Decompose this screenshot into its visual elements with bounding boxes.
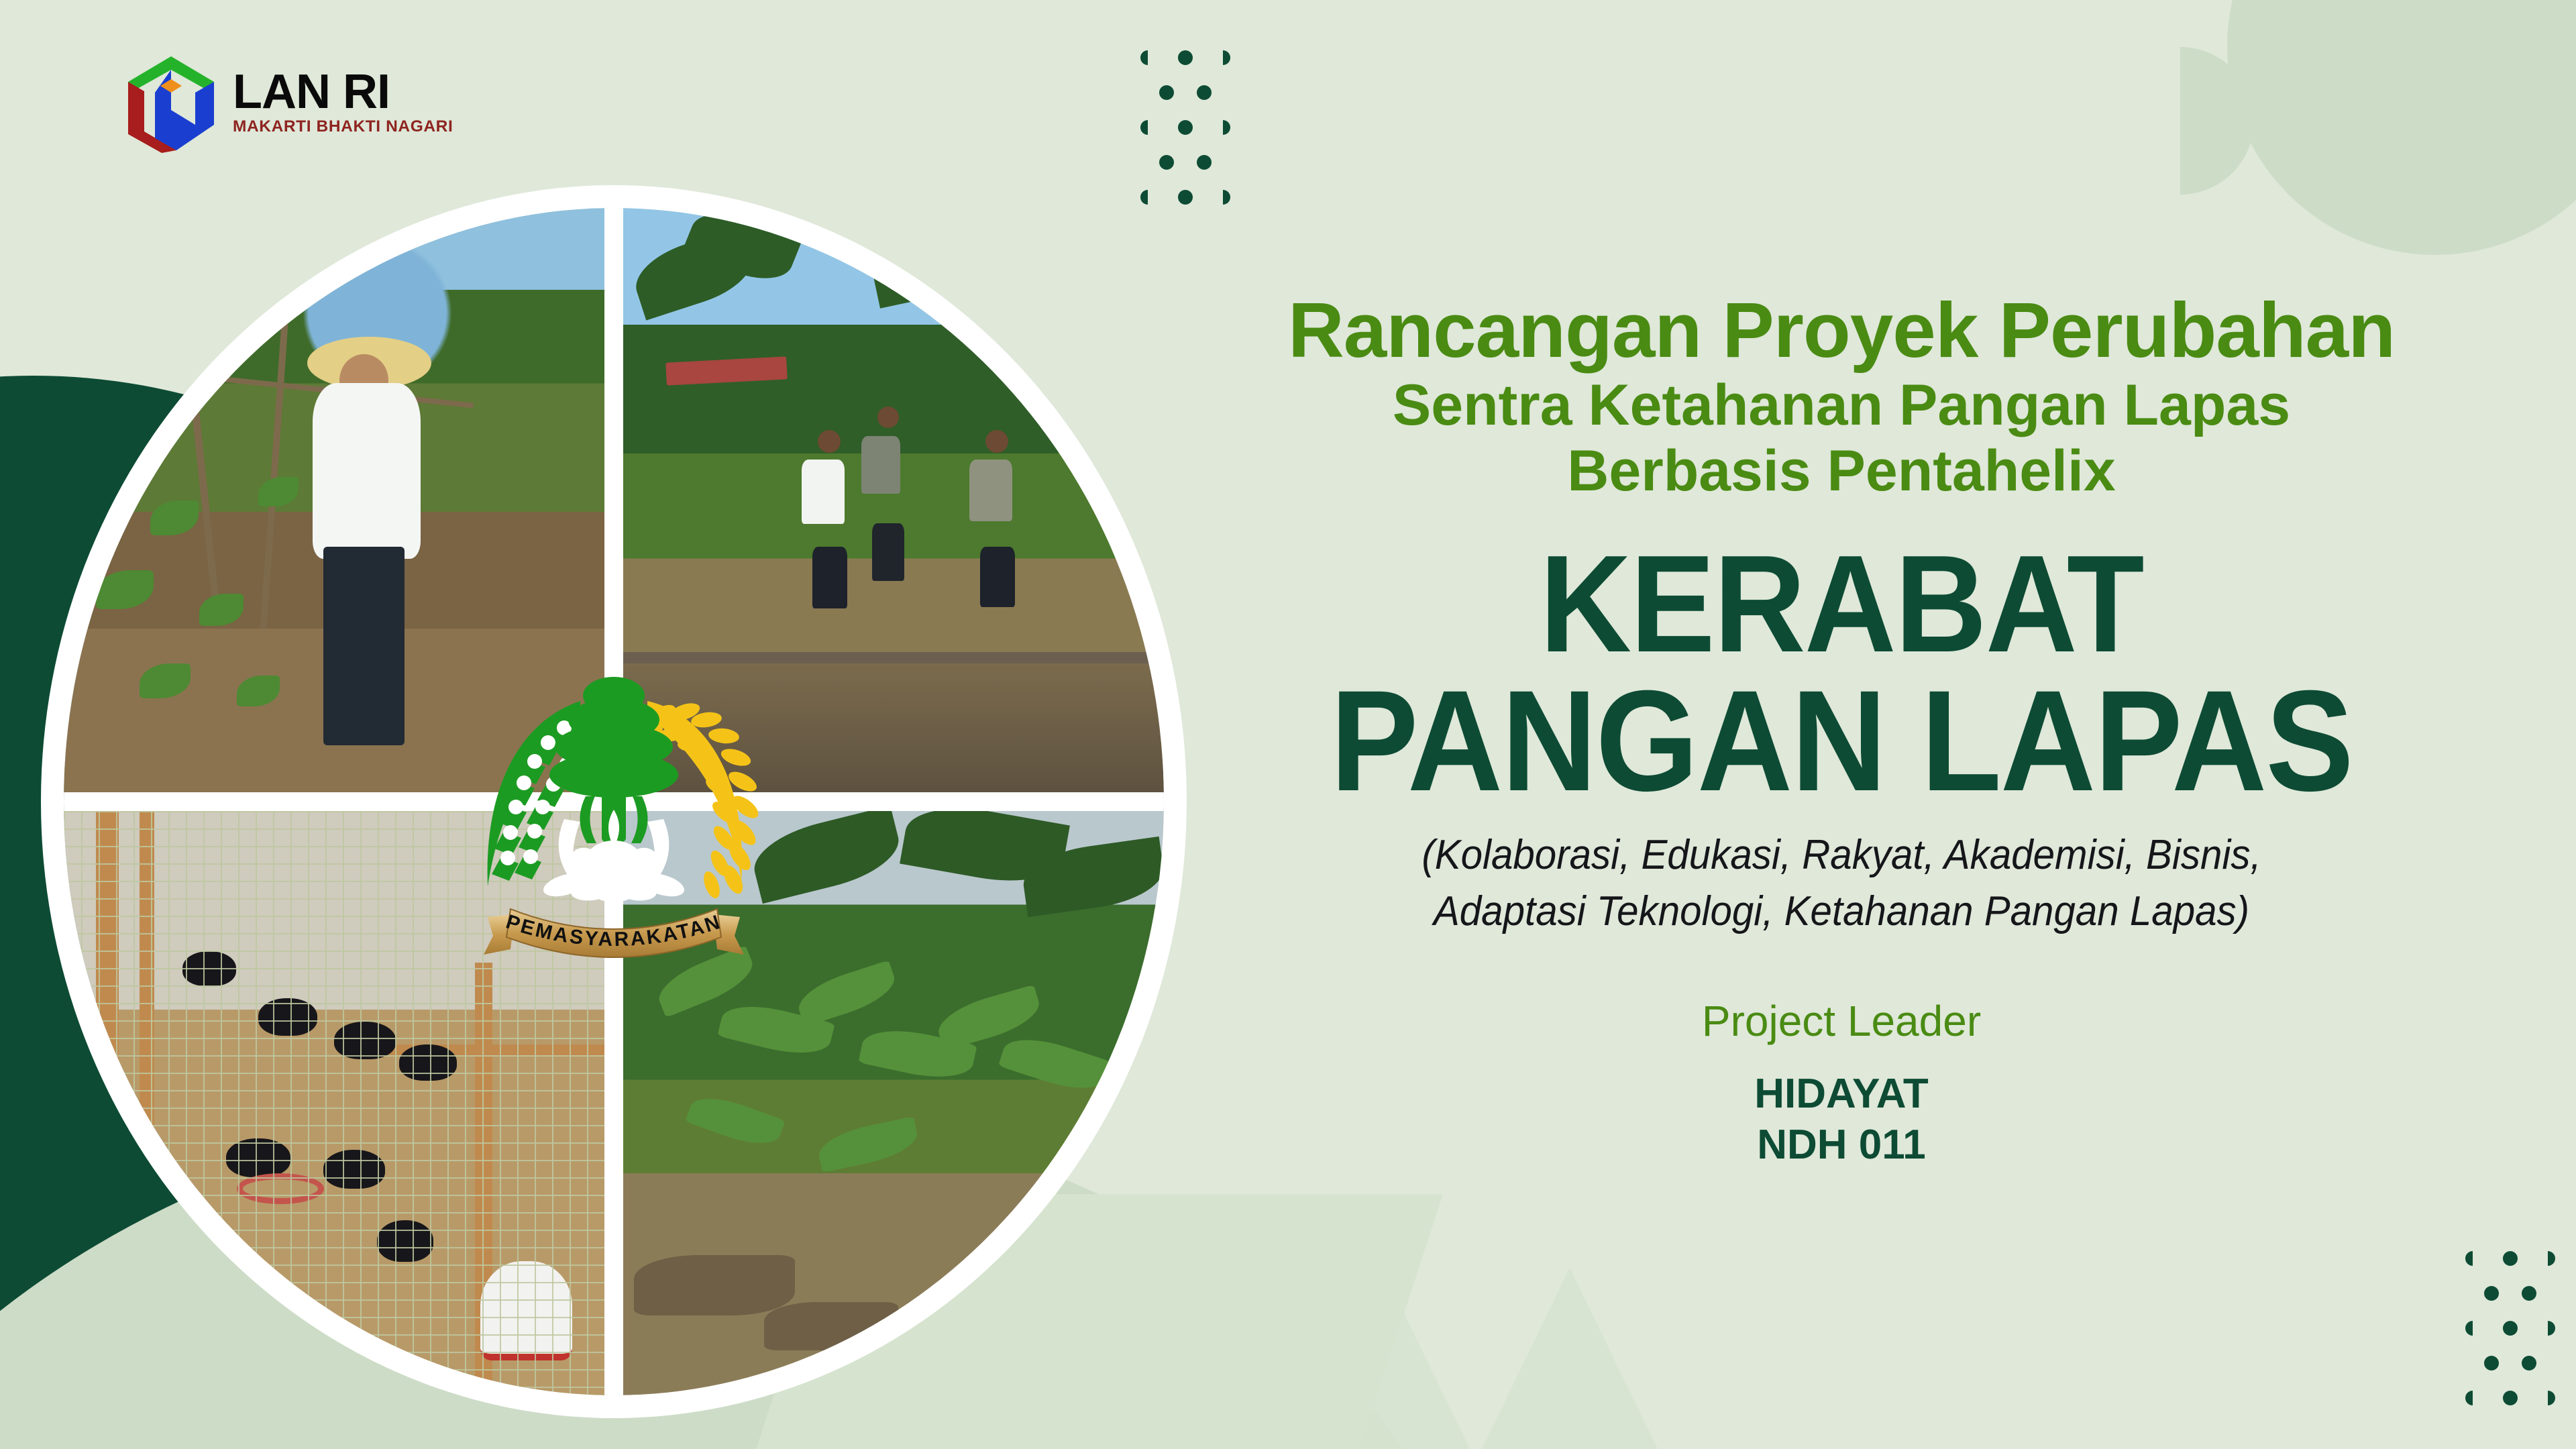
big-title-line2: PANGAN LAPAS (1246, 672, 2437, 811)
lan-ri-tagline: MAKARTI BHAKTI NAGARI (233, 117, 453, 136)
decor-dot (1178, 190, 1193, 205)
header-title-line3: Berbasis Pentahelix (1194, 438, 2489, 504)
decor-dot (2465, 1391, 2473, 1405)
lan-ri-logo: LAN RI MAKARTI BHAKTI NAGARI (124, 52, 453, 153)
decor-dot (2503, 1321, 2518, 1336)
decor-dot (2465, 1251, 2473, 1266)
decor-dot (1140, 50, 1148, 65)
decor-dot (2503, 1391, 2518, 1405)
acronym-line1: (Kolaborasi, Edukasi, Rakyat, Akademisi,… (1233, 827, 2450, 883)
project-leader-ndh: NDH 011 (1194, 1120, 2489, 1171)
decor-dot (1197, 85, 1212, 100)
header-title-line1: Rancangan Proyek Perubahan (1194, 288, 2489, 372)
chevron-outline-a (1275, 1268, 1489, 1449)
emblem-banner: PEMASYARAKATAN (484, 909, 744, 957)
lan-ri-logo-text: LAN RI MAKARTI BHAKTI NAGARI (233, 69, 453, 136)
project-leader-block: HIDAYAT NDH 011 (1194, 1069, 2489, 1170)
decor-dot (2503, 1251, 2518, 1266)
decor-dot (2484, 1356, 2499, 1371)
acronym-expansion: (Kolaborasi, Edukasi, Rakyat, Akademisi,… (1233, 827, 2450, 941)
big-title-line1: KERABAT (1246, 537, 2437, 672)
decor-dot (1159, 155, 1174, 170)
header-title-line2: Sentra Ketahanan Pangan Lapas (1194, 372, 2489, 438)
decor-dot (1178, 50, 1193, 65)
decor-dot (1178, 120, 1193, 135)
photo-collage-circle: PEMASYARAKATAN (64, 208, 1164, 1395)
main-content-column: Rancangan Proyek Perubahan Sentra Ketaha… (1194, 288, 2489, 1171)
decor-dot (2465, 1321, 2473, 1336)
decor-dot (2522, 1356, 2536, 1371)
project-leader-label: Project Leader (1194, 996, 2489, 1046)
chevron-outline-b (1462, 1268, 1677, 1449)
decor-dot (1140, 190, 1148, 205)
decor-dot (2522, 1286, 2536, 1301)
lan-ri-logo-mark (124, 52, 218, 153)
project-big-title: KERABAT PANGAN LAPAS (1246, 537, 2437, 810)
top-right-circle (2227, 0, 2576, 255)
lotus-flower (541, 810, 687, 903)
pemasyarakatan-emblem: PEMASYARAKATAN (426, 614, 802, 989)
decor-dot (1223, 50, 1230, 65)
lan-ri-title: LAN RI (233, 69, 453, 115)
project-leader-name: HIDAYAT (1194, 1069, 2489, 1120)
decor-dot (2548, 1251, 2555, 1266)
decor-dot (1197, 155, 1212, 170)
decor-dot (1223, 120, 1230, 135)
decor-dot (2484, 1286, 2499, 1301)
decor-dot (1223, 190, 1230, 205)
decor-dot (2548, 1391, 2555, 1405)
decor-dot (1159, 85, 1174, 100)
decor-dot (2548, 1321, 2555, 1336)
acronym-line2: Adaptasi Teknologi, Ketahanan Pangan Lap… (1233, 883, 2450, 940)
decor-dot (1140, 120, 1148, 135)
